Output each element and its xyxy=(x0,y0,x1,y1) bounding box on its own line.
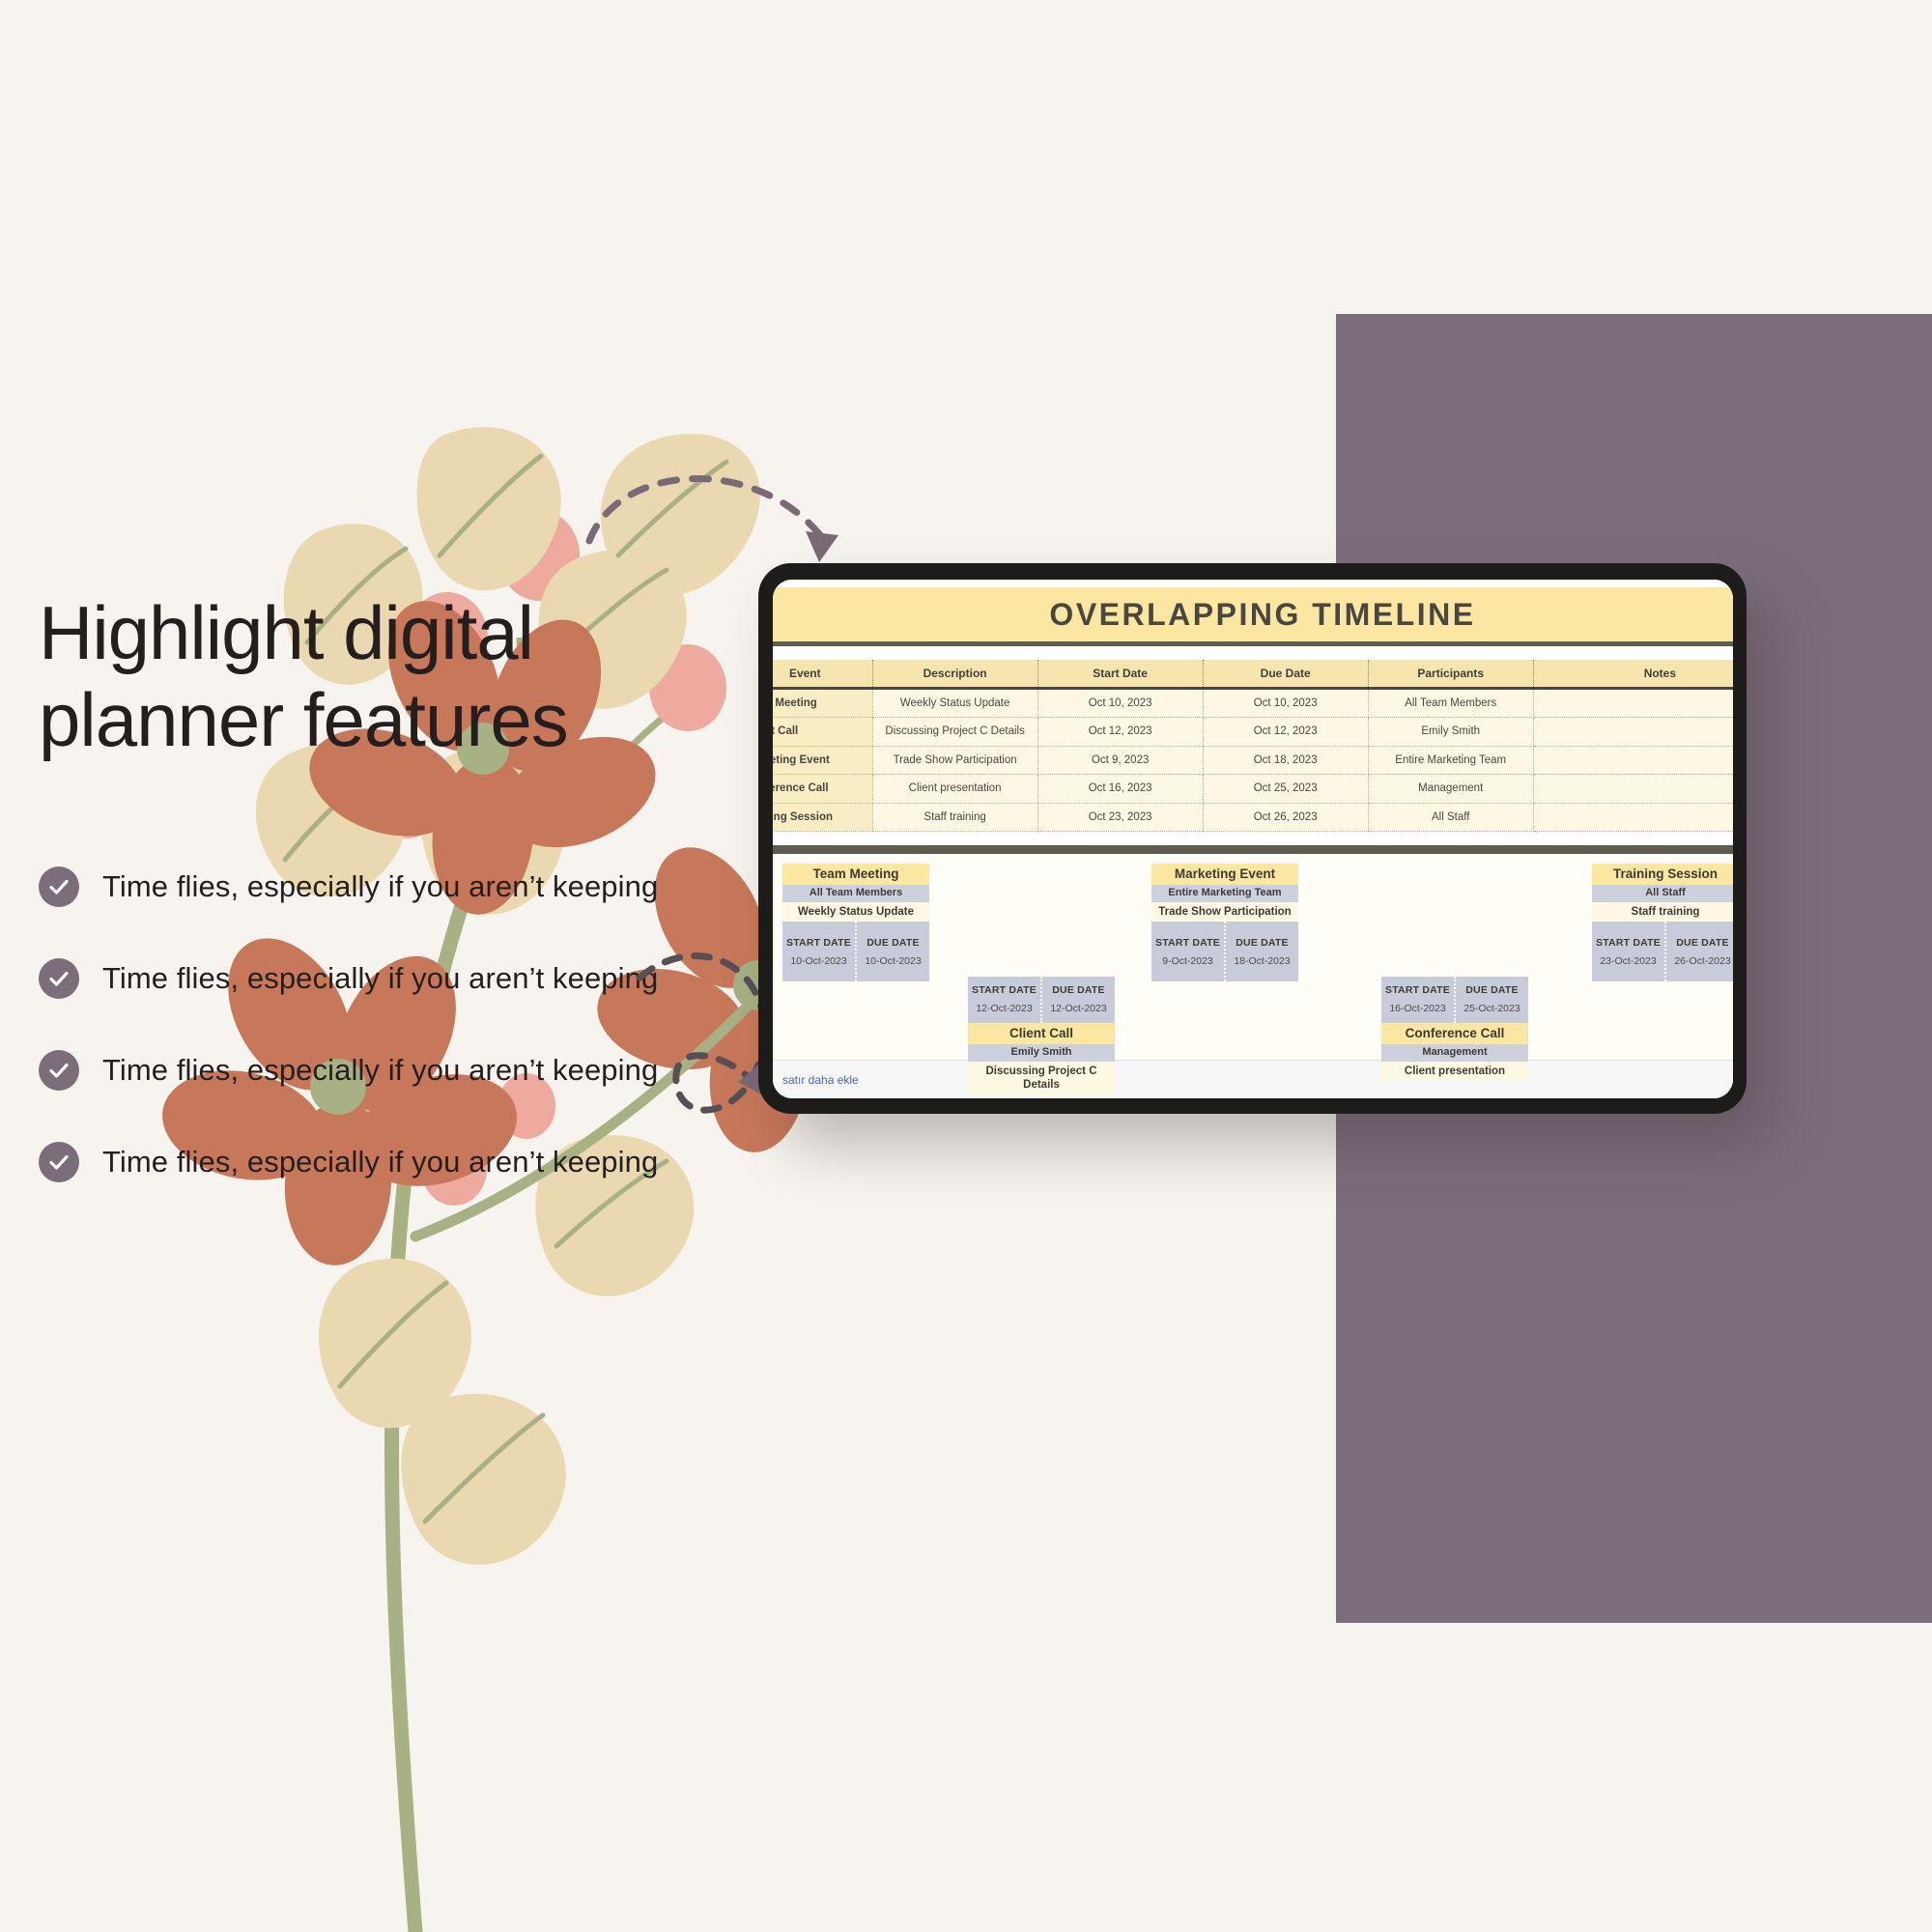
cell-event[interactable]: Marketing Event xyxy=(773,746,872,774)
page-title: Highlight digital planner features xyxy=(39,589,831,764)
cell-due-date[interactable]: Oct 26, 2023 xyxy=(1203,803,1368,831)
gantt-card-due: DUE DATE 10-Oct-2023 xyxy=(855,922,929,981)
gantt-card-start: START DATE 9-Oct-2023 xyxy=(1151,922,1224,981)
gantt-card-title: Training Session xyxy=(1592,864,1733,885)
start-date-label: START DATE xyxy=(1155,937,1220,949)
cell-start-date[interactable]: Oct 16, 2023 xyxy=(1037,775,1203,803)
tablet-screen: OVERLAPPING TIMELINE Event Description S… xyxy=(773,580,1733,1098)
due-date-label: DUE DATE xyxy=(1676,937,1729,949)
due-date-value: 26-Oct-2023 xyxy=(1674,955,1730,967)
column-header-start-date[interactable]: Start Date xyxy=(1037,660,1203,689)
start-date-label: START DATE xyxy=(786,937,851,949)
cell-start-date[interactable]: Oct 12, 2023 xyxy=(1037,718,1203,746)
cell-due-date[interactable]: Oct 18, 2023 xyxy=(1203,746,1368,774)
list-item-label: Time flies, especially if you aren’t kee… xyxy=(102,869,658,904)
cell-start-date[interactable]: Oct 9, 2023 xyxy=(1037,746,1203,774)
cell-start-date[interactable]: Oct 23, 2023 xyxy=(1037,803,1203,831)
cell-due-date[interactable]: Oct 10, 2023 xyxy=(1203,689,1368,718)
gantt-card-dates: START DATE 16-Oct-2023 DUE DATE 25-Oct-2… xyxy=(1381,977,1528,1023)
start-date-value: 16-Oct-2023 xyxy=(1389,1003,1445,1014)
check-circle-icon xyxy=(39,1050,79,1091)
cell-notes[interactable] xyxy=(1533,718,1733,746)
gantt-card-title: Client Call xyxy=(968,1023,1115,1044)
cell-notes[interactable] xyxy=(1533,775,1733,803)
gantt-card-due: DUE DATE 25-Oct-2023 xyxy=(1454,977,1528,1023)
check-circle-icon xyxy=(39,1142,79,1182)
cell-description[interactable]: Discussing Project C Details xyxy=(872,718,1037,746)
gantt-card-client-call[interactable]: START DATE 12-Oct-2023 DUE DATE 12-Oct-2… xyxy=(968,977,1115,1095)
cell-description[interactable]: Client presentation xyxy=(872,775,1037,803)
table-row[interactable]: Client Call Discussing Project C Details… xyxy=(773,718,1733,746)
gantt-card-dates: START DATE 23-Oct-2023 DUE DATE 26-Oct-2… xyxy=(1592,922,1733,981)
cell-participants[interactable]: All Team Members xyxy=(1368,689,1533,718)
cell-description[interactable]: Staff training xyxy=(872,803,1037,831)
column-header-event[interactable]: Event xyxy=(773,660,872,689)
column-header-description[interactable]: Description xyxy=(872,660,1037,689)
table-row[interactable]: Training Session Staff training Oct 23, … xyxy=(773,803,1733,831)
gantt-card-title: Marketing Event xyxy=(1151,864,1298,885)
gantt-spacer xyxy=(773,832,1733,845)
gantt-card-title: Team Meeting xyxy=(782,864,929,885)
gantt-card-due: DUE DATE 18-Oct-2023 xyxy=(1224,922,1298,981)
check-circle-icon xyxy=(39,867,79,907)
list-item-label: Time flies, especially if you aren’t kee… xyxy=(102,1145,658,1179)
gantt-card-participants: Management xyxy=(1381,1044,1528,1062)
gantt-card-conference-call[interactable]: START DATE 16-Oct-2023 DUE DATE 25-Oct-2… xyxy=(1381,977,1528,1081)
due-date-value: 10-Oct-2023 xyxy=(865,955,921,967)
gantt-card-dates: START DATE 10-Oct-2023 DUE DATE 10-Oct-2… xyxy=(782,922,929,981)
due-date-label: DUE DATE xyxy=(867,937,920,949)
check-circle-icon xyxy=(39,958,79,999)
gantt-card-dates: START DATE 9-Oct-2023 DUE DATE 18-Oct-20… xyxy=(1151,922,1298,981)
due-date-value: 18-Oct-2023 xyxy=(1234,955,1290,967)
list-item-label: Time flies, especially if you aren’t kee… xyxy=(102,961,658,996)
gantt-card-marketing-event[interactable]: Marketing Event Entire Marketing Team Tr… xyxy=(1151,864,1298,981)
sheet-footer: satır daha ekle xyxy=(773,1060,1733,1098)
sheet-title: OVERLAPPING TIMELINE xyxy=(773,587,1733,646)
gantt-timeline: Team Meeting All Team Members Weekly Sta… xyxy=(773,854,1733,1060)
due-date-label: DUE DATE xyxy=(1236,937,1289,949)
cell-event[interactable]: Client Call xyxy=(773,718,872,746)
spreadsheet-app: OVERLAPPING TIMELINE Event Description S… xyxy=(773,580,1733,1098)
start-date-label: START DATE xyxy=(1596,937,1661,949)
tablet-device: OVERLAPPING TIMELINE Event Description S… xyxy=(758,563,1747,1114)
gantt-card-participants: All Staff xyxy=(1592,885,1733,902)
list-item: Time flies, especially if you aren’t kee… xyxy=(39,1116,908,1207)
gantt-card-description: Staff training xyxy=(1592,902,1733,922)
due-date-value: 12-Oct-2023 xyxy=(1050,1003,1106,1014)
headline-line-1: Highlight digital xyxy=(39,589,831,676)
column-header-notes[interactable]: Notes xyxy=(1533,660,1733,689)
start-date-value: 23-Oct-2023 xyxy=(1600,955,1656,967)
cell-event[interactable]: Conference Call xyxy=(773,775,872,803)
column-header-participants[interactable]: Participants xyxy=(1368,660,1533,689)
gantt-card-start: START DATE 16-Oct-2023 xyxy=(1381,977,1454,1023)
gantt-card-team-meeting[interactable]: Team Meeting All Team Members Weekly Sta… xyxy=(782,864,929,981)
gantt-card-description: Client presentation xyxy=(1381,1062,1528,1081)
cell-description[interactable]: Trade Show Participation xyxy=(872,746,1037,774)
cell-notes[interactable] xyxy=(1533,689,1733,718)
sheet-title-container: OVERLAPPING TIMELINE xyxy=(773,580,1733,646)
cell-due-date[interactable]: Oct 25, 2023 xyxy=(1203,775,1368,803)
gantt-card-participants: Emily Smith xyxy=(968,1044,1115,1062)
cell-notes[interactable] xyxy=(1533,746,1733,774)
cell-notes[interactable] xyxy=(1533,803,1733,831)
gantt-divider-bar xyxy=(773,845,1733,854)
gantt-card-start: START DATE 10-Oct-2023 xyxy=(782,922,855,981)
events-table: Event Description Start Date Due Date Pa… xyxy=(773,660,1733,832)
cell-start-date[interactable]: Oct 10, 2023 xyxy=(1037,689,1203,718)
column-header-due-date[interactable]: Due Date xyxy=(1203,660,1368,689)
gantt-card-due: DUE DATE 26-Oct-2023 xyxy=(1664,922,1733,981)
cell-event[interactable]: Training Session xyxy=(773,803,872,831)
table-header-row: Event Description Start Date Due Date Pa… xyxy=(773,660,1733,689)
gantt-card-due: DUE DATE 12-Oct-2023 xyxy=(1040,977,1115,1023)
cell-participants[interactable]: All Staff xyxy=(1368,803,1533,831)
due-date-value: 25-Oct-2023 xyxy=(1463,1003,1520,1014)
start-date-label: START DATE xyxy=(972,984,1037,996)
due-date-label: DUE DATE xyxy=(1052,984,1105,996)
headline-line-2: planner features xyxy=(39,676,831,763)
gantt-card-start: START DATE 12-Oct-2023 xyxy=(968,977,1040,1023)
gantt-card-training-session[interactable]: Training Session All Staff Staff trainin… xyxy=(1592,864,1733,981)
table-row[interactable]: Marketing Event Trade Show Participation… xyxy=(773,746,1733,774)
gantt-card-title: Conference Call xyxy=(1381,1023,1528,1044)
add-row-link[interactable]: satır daha ekle xyxy=(782,1073,859,1087)
start-date-value: 12-Oct-2023 xyxy=(976,1003,1032,1014)
gantt-card-description: Weekly Status Update xyxy=(782,902,929,922)
gantt-card-participants: Entire Marketing Team xyxy=(1151,885,1298,902)
cell-participants[interactable]: Entire Marketing Team xyxy=(1368,746,1533,774)
cell-due-date[interactable]: Oct 12, 2023 xyxy=(1203,718,1368,746)
start-date-label: START DATE xyxy=(1385,984,1450,996)
gantt-card-dates: START DATE 12-Oct-2023 DUE DATE 12-Oct-2… xyxy=(968,977,1115,1023)
list-item-label: Time flies, especially if you aren’t kee… xyxy=(102,1053,658,1088)
start-date-value: 10-Oct-2023 xyxy=(790,955,846,967)
cell-participants[interactable]: Management xyxy=(1368,775,1533,803)
cell-participants[interactable]: Emily Smith xyxy=(1368,718,1533,746)
table-row[interactable]: Conference Call Client presentation Oct … xyxy=(773,775,1733,803)
start-date-value: 9-Oct-2023 xyxy=(1162,955,1213,967)
gantt-card-description: Discussing Project C Details xyxy=(968,1062,1115,1095)
data-table-area: Event Description Start Date Due Date Pa… xyxy=(773,646,1733,832)
gantt-card-participants: All Team Members xyxy=(782,885,929,902)
due-date-label: DUE DATE xyxy=(1465,984,1519,996)
gantt-card-description: Trade Show Participation xyxy=(1151,902,1298,922)
table-row[interactable]: Team Meeting Weekly Status Update Oct 10… xyxy=(773,689,1733,718)
cell-event[interactable]: Team Meeting xyxy=(773,689,872,718)
cell-description[interactable]: Weekly Status Update xyxy=(872,689,1037,718)
gantt-card-start: START DATE 23-Oct-2023 xyxy=(1592,922,1664,981)
